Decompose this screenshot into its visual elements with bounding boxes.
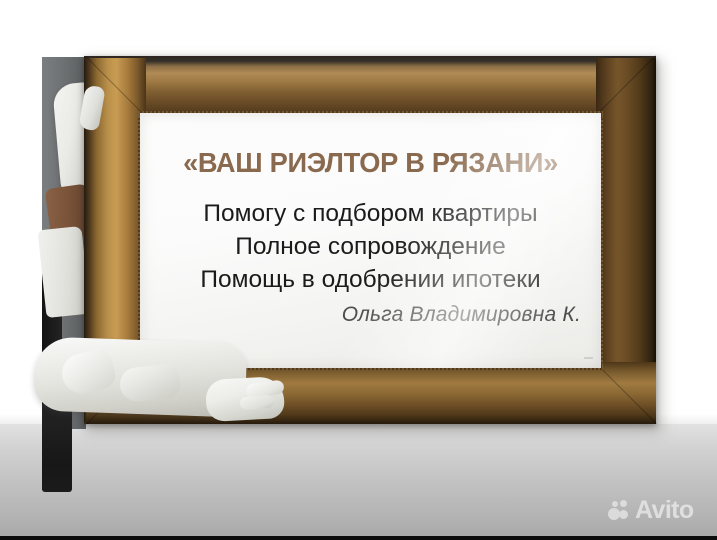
glove-fold-2 bbox=[118, 363, 181, 403]
sign-body-line-3: Помощь в одобрении ипотеки bbox=[140, 263, 601, 296]
avito-dots-icon bbox=[608, 500, 630, 522]
wall-panel-lower-edge bbox=[42, 404, 72, 492]
gloved-finger-lower bbox=[240, 395, 275, 410]
bottom-edge-band bbox=[0, 536, 717, 540]
sign-signature: Ольга Владимировна К. bbox=[140, 303, 581, 327]
advertisement-sign: «ВАШ РИЭЛТОР В РЯЗАНИ» Помогу с подбором… bbox=[140, 113, 601, 368]
photo-canvas: «ВАШ РИЭЛТОР В РЯЗАНИ» Помогу с подбором… bbox=[0, 0, 717, 540]
avito-watermark: Avito bbox=[608, 498, 694, 523]
sign-title: «ВАШ РИЭЛТОР В РЯЗАНИ» bbox=[142, 147, 598, 179]
sign-body-line-1: Помогу с подбором квартиры bbox=[140, 197, 601, 230]
sign-corner-mark bbox=[584, 357, 593, 359]
sign-body: Помогу с подбором квартиры Полное сопров… bbox=[140, 197, 601, 296]
avito-wordmark: Avito bbox=[635, 498, 694, 523]
sign-body-line-2: Полное сопровождение bbox=[140, 230, 601, 263]
sleeve-upper bbox=[38, 226, 91, 318]
